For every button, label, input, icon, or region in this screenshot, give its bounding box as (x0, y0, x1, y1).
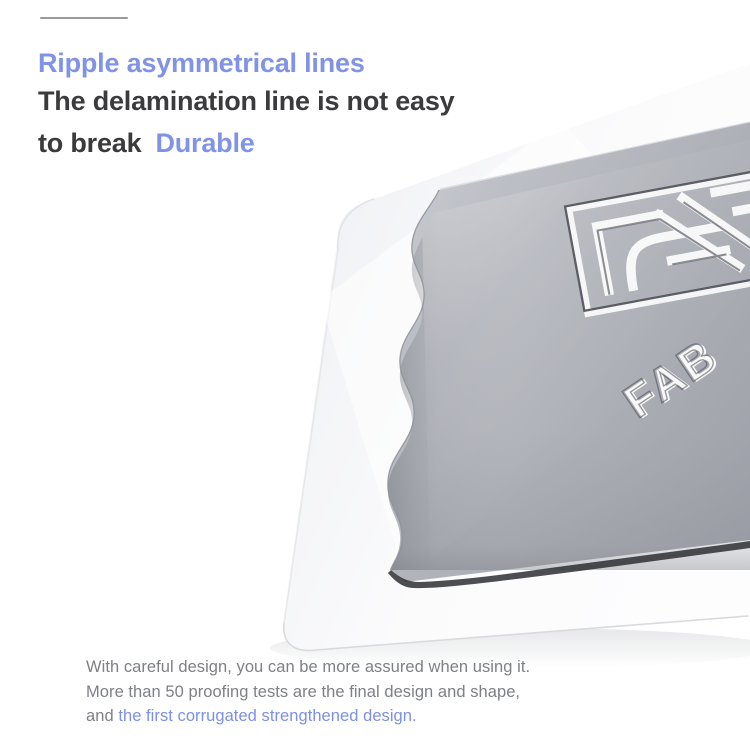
caption-line-3-accent: the first corrugated strengthened design… (118, 707, 416, 725)
headline-block: Ripple asymmetrical lines The delaminati… (38, 46, 578, 164)
caption-line-3-prefix: and (86, 707, 118, 725)
caption-line-3: and the first corrugated strengthened de… (86, 704, 706, 729)
headline-accent-line: Ripple asymmetrical lines (38, 46, 578, 80)
caption-line-1: With careful design, you can be more ass… (86, 655, 706, 680)
headline-main-line-2-text: to break (38, 128, 141, 158)
headline-main-line-1: The delamination line is not easy (38, 80, 578, 122)
promo-page: FAB FAB Ripple asymmetrical lines The de… (0, 0, 750, 750)
headline-main-line-2: to breakDurable (38, 122, 578, 164)
caption-block: With careful design, you can be more ass… (86, 655, 706, 729)
caption-line-2: More than 50 proofing tests are the fina… (86, 680, 706, 705)
headline-durable-accent: Durable (141, 128, 254, 158)
